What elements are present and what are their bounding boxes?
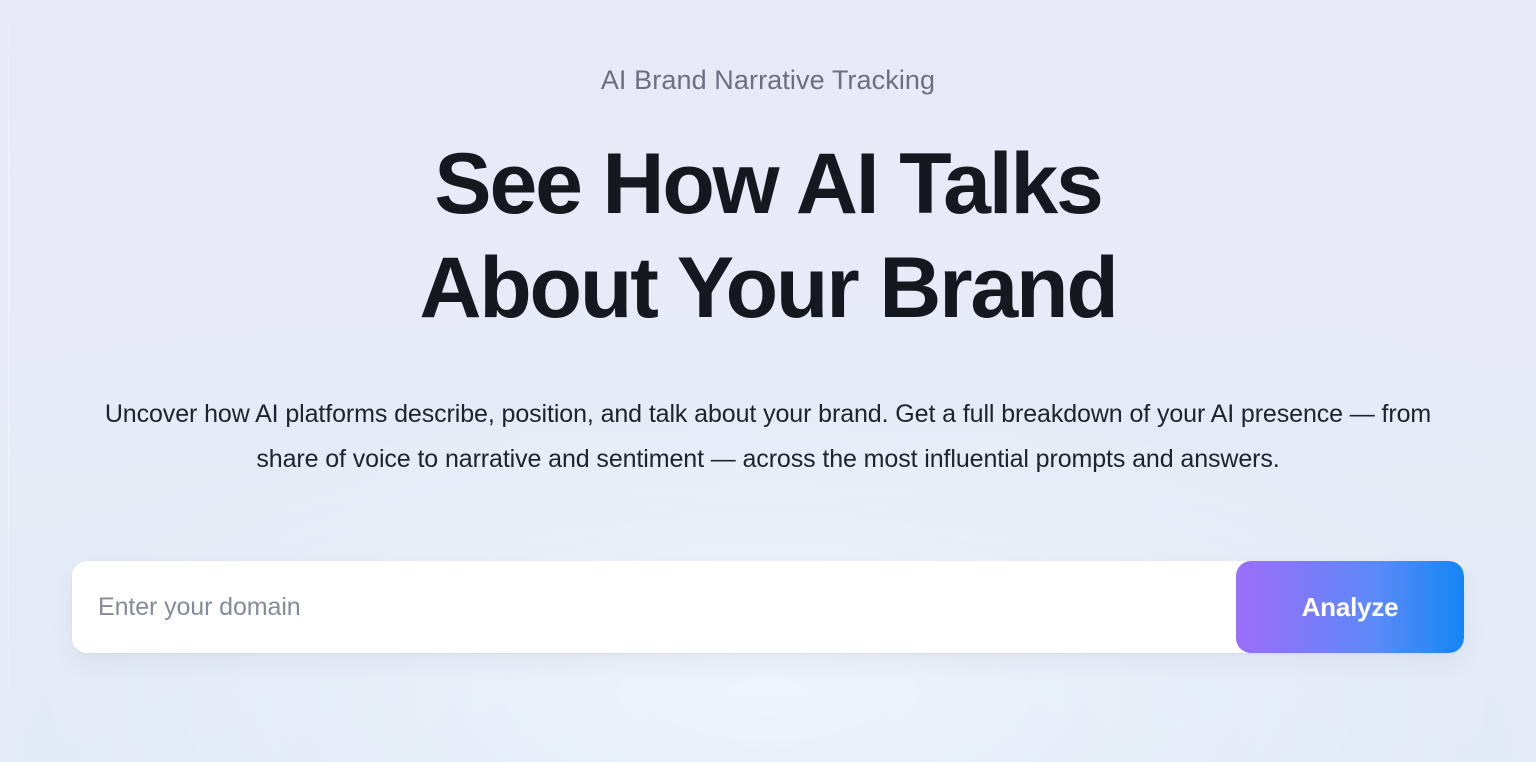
- hero-eyebrow: AI Brand Narrative Tracking: [601, 64, 935, 96]
- hero-section: AI Brand Narrative Tracking See How AI T…: [0, 0, 1536, 762]
- domain-search-bar: Analyze: [72, 561, 1464, 653]
- domain-input[interactable]: [72, 561, 1236, 653]
- page-title: See How AI Talks About Your Brand: [419, 132, 1116, 340]
- headline-line-1: See How AI Talks: [419, 132, 1116, 236]
- headline-line-2: About Your Brand: [419, 236, 1116, 340]
- analyze-button[interactable]: Analyze: [1236, 561, 1464, 653]
- hero-description: Uncover how AI platforms describe, posit…: [73, 392, 1463, 482]
- background-seam: [8, 0, 9, 762]
